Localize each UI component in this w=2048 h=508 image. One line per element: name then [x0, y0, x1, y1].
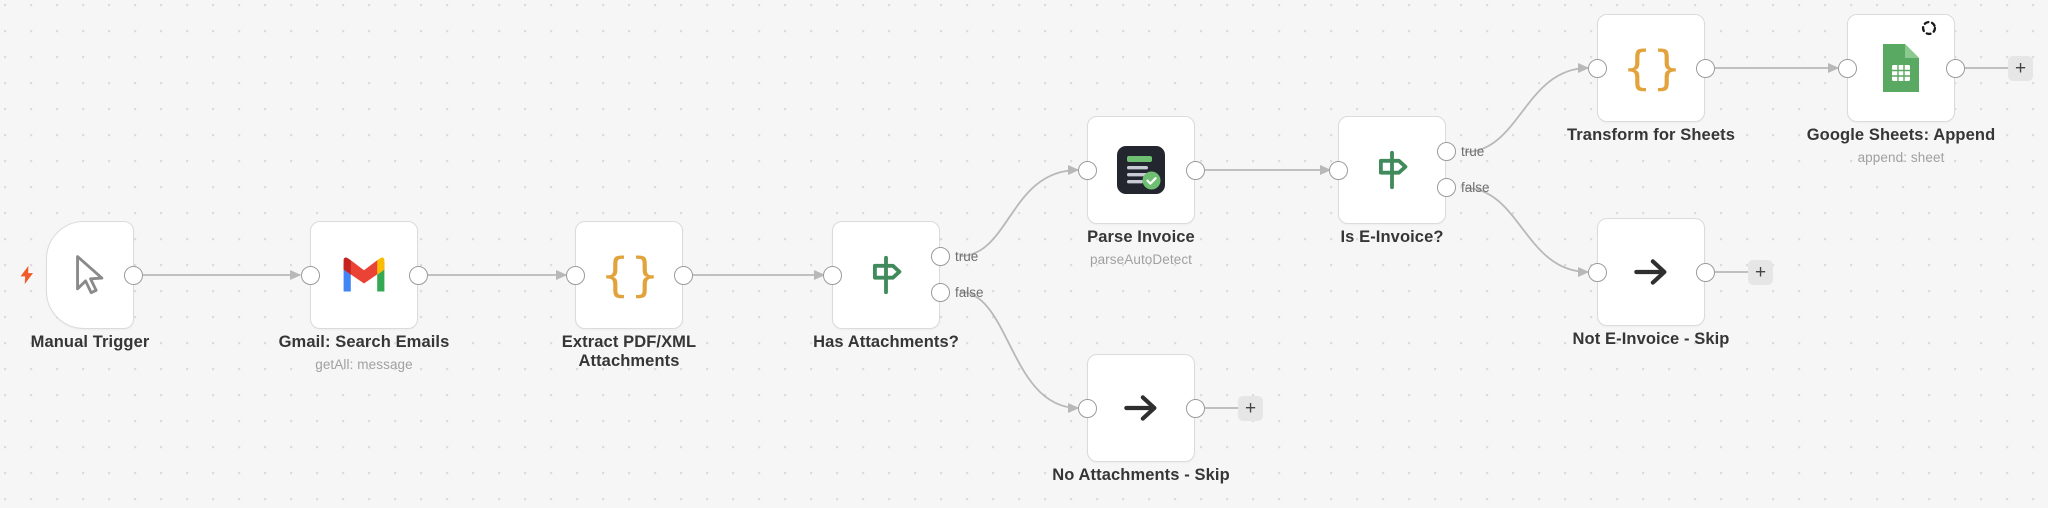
connection-edges	[0, 0, 2048, 508]
port-gmail-input[interactable]	[301, 266, 320, 285]
add-node-button-after-not-e-invoice-skip[interactable]: +	[1748, 260, 1773, 285]
port-is-e-invoice-output-true[interactable]	[1437, 142, 1456, 161]
add-node-button-after-no-attachments-skip[interactable]: +	[1238, 396, 1263, 421]
port-no-attachments-skip-output[interactable]	[1186, 399, 1205, 418]
port-not-e-invoice-skip-input[interactable]	[1588, 263, 1607, 282]
arrow-right-noop-icon	[1629, 250, 1673, 294]
sublabel-google-sheets-append: append: sheet	[1801, 150, 2001, 165]
sublabel-parse-invoice: parseAutoDetect	[1041, 252, 1241, 267]
node-is-e-invoice[interactable]	[1338, 116, 1446, 224]
port-extract-input[interactable]	[566, 266, 585, 285]
port-no-attachments-skip-input[interactable]	[1078, 399, 1097, 418]
node-no-attachments-skip[interactable]	[1087, 354, 1195, 462]
sublabel-gmail-search-emails: getAll: message	[264, 357, 464, 372]
node-not-e-invoice-skip[interactable]	[1597, 218, 1705, 326]
port-is-e-invoice-output-false[interactable]	[1437, 178, 1456, 197]
port-has-attachments-output-true[interactable]	[931, 247, 950, 266]
google-sheets-icon	[1879, 40, 1923, 96]
node-transform-for-sheets[interactable]: { }	[1597, 14, 1705, 122]
label-no-attachments-skip: No Attachments - Skip	[1041, 466, 1241, 485]
signpost-if-icon	[863, 252, 909, 298]
port-transform-input[interactable]	[1588, 59, 1607, 78]
retry-icon	[1920, 19, 1938, 42]
invoice-document-check-icon	[1113, 142, 1169, 198]
port-parse-invoice-output[interactable]	[1186, 161, 1205, 180]
port-has-attachments-input[interactable]	[823, 266, 842, 285]
port-transform-output[interactable]	[1696, 59, 1715, 78]
workflow-canvas[interactable]: Manual Trigger Gmail: Search Emails getA…	[0, 0, 2048, 508]
label-manual-trigger: Manual Trigger	[0, 333, 190, 352]
node-gmail-search-emails[interactable]	[310, 221, 418, 329]
port-manual-trigger-output[interactable]	[124, 266, 143, 285]
node-extract-pdf-xml-attachments[interactable]: { }	[575, 221, 683, 329]
port-google-sheets-input[interactable]	[1838, 59, 1857, 78]
label-transform-for-sheets: Transform for Sheets	[1551, 126, 1751, 145]
port-label-is-e-invoice-true: true	[1461, 144, 1484, 159]
port-google-sheets-output[interactable]	[1946, 59, 1965, 78]
node-parse-invoice[interactable]	[1087, 116, 1195, 224]
port-gmail-output[interactable]	[409, 266, 428, 285]
port-is-e-invoice-input[interactable]	[1329, 161, 1348, 180]
add-node-button-after-google-sheets[interactable]: +	[2008, 56, 2033, 81]
code-braces-icon: { }	[1622, 41, 1679, 95]
arrow-right-noop-icon	[1119, 386, 1163, 430]
port-parse-invoice-input[interactable]	[1078, 161, 1097, 180]
label-google-sheets-append: Google Sheets: Append	[1801, 126, 2001, 145]
label-not-e-invoice-skip: Not E-Invoice - Skip	[1551, 330, 1751, 349]
gmail-icon	[340, 257, 388, 294]
trigger-bolt-icon	[16, 262, 38, 293]
code-braces-icon: { }	[600, 248, 657, 302]
cursor-pointer-icon	[67, 252, 113, 298]
label-is-e-invoice: Is E-Invoice?	[1292, 228, 1492, 247]
node-manual-trigger[interactable]	[46, 221, 134, 329]
label-gmail-search-emails: Gmail: Search Emails	[264, 333, 464, 352]
signpost-if-icon	[1369, 147, 1415, 193]
node-has-attachments[interactable]	[832, 221, 940, 329]
port-label-has-attachments-false: false	[955, 285, 984, 300]
label-has-attachments: Has Attachments?	[786, 333, 986, 352]
port-not-e-invoice-skip-output[interactable]	[1696, 263, 1715, 282]
port-extract-output[interactable]	[674, 266, 693, 285]
label-extract-pdf-xml-attachments: Extract PDF/XML Attachments	[529, 333, 729, 372]
node-google-sheets-append[interactable]	[1847, 14, 1955, 122]
port-has-attachments-output-false[interactable]	[931, 283, 950, 302]
port-label-has-attachments-true: true	[955, 249, 978, 264]
label-parse-invoice: Parse Invoice	[1041, 228, 1241, 247]
port-label-is-e-invoice-false: false	[1461, 180, 1490, 195]
